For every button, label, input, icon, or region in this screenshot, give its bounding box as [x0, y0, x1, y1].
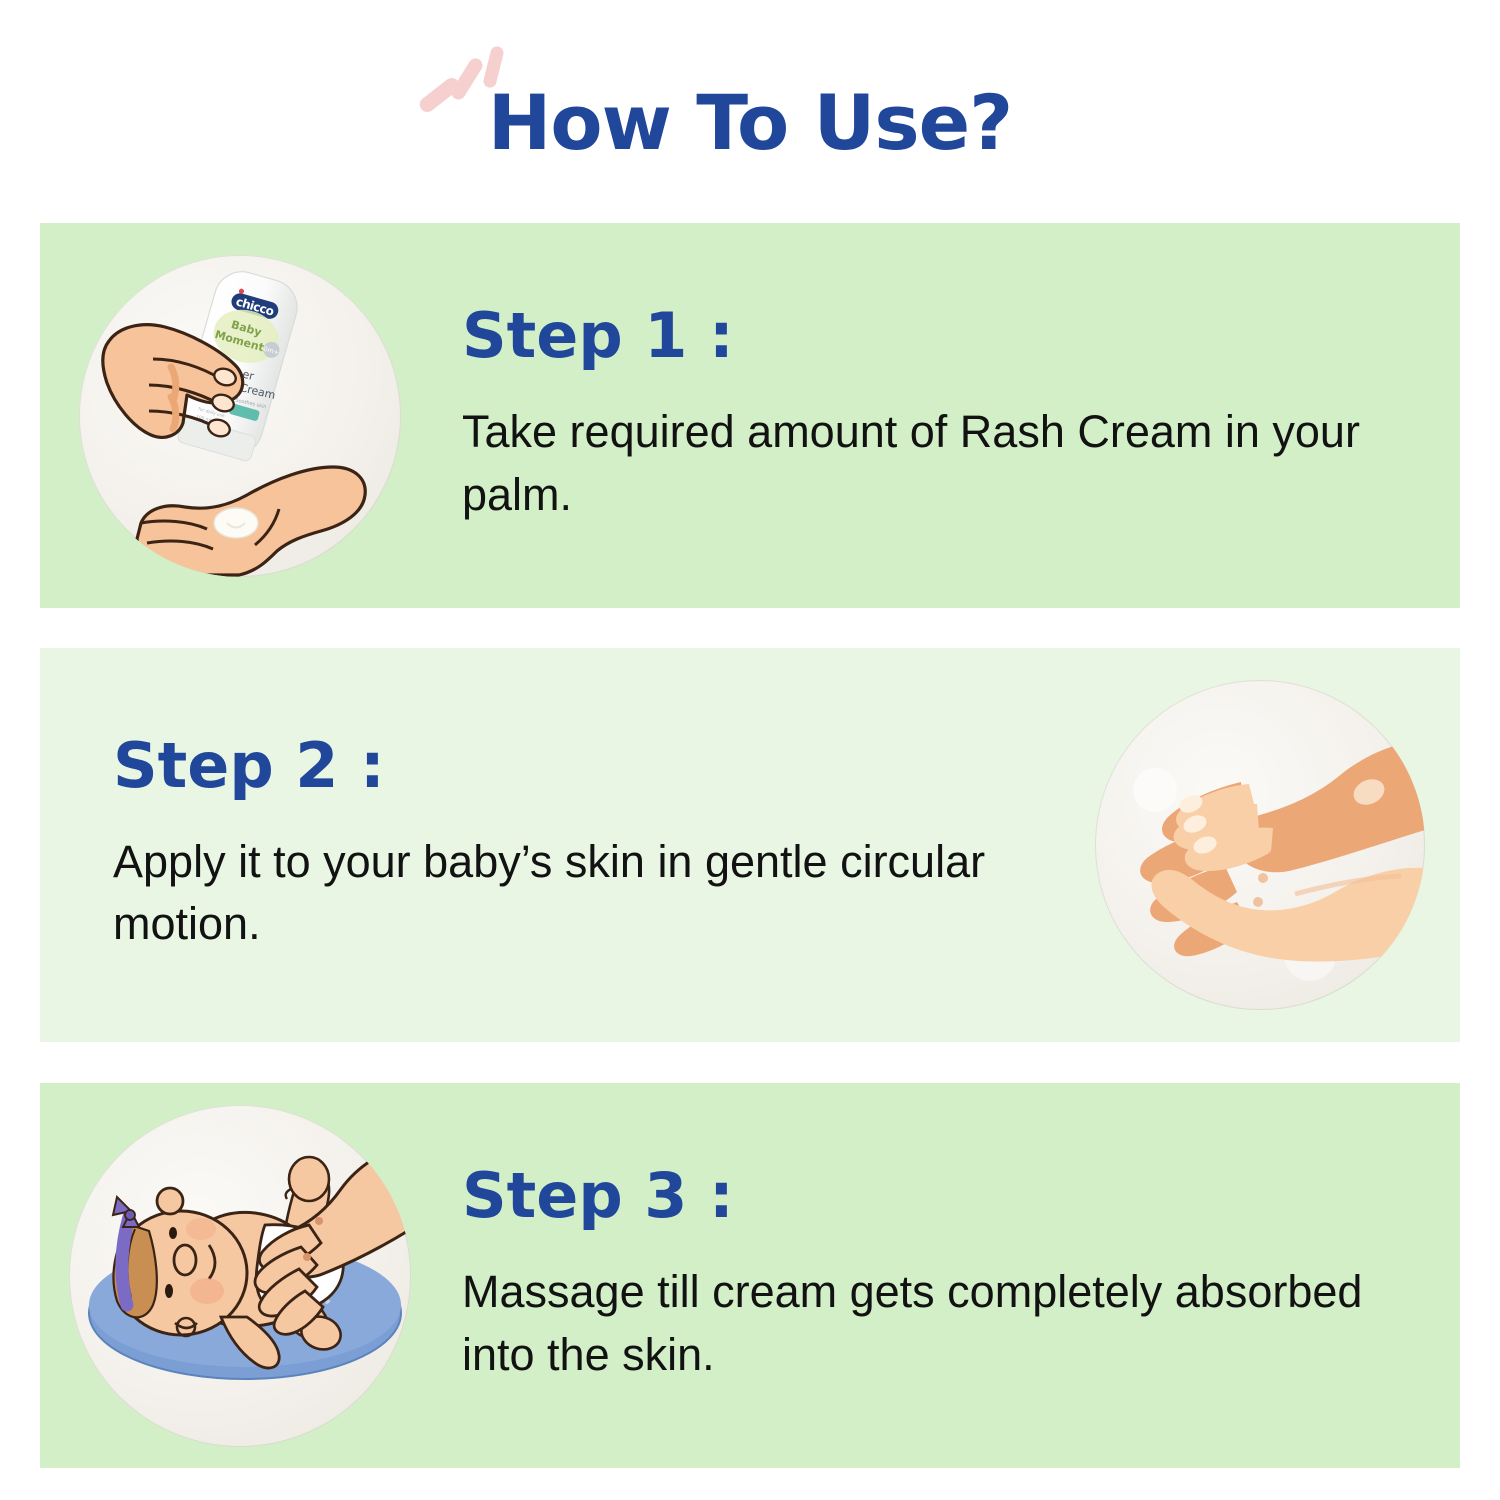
step-3-heading: Step 3 : — [462, 1165, 1430, 1227]
step-2-heading: Step 2 : — [113, 735, 1040, 797]
step-panel-3: Step 3 : Massage till cream gets complet… — [40, 1083, 1460, 1468]
step-2-body: Apply it to your baby’s skin in gentle c… — [113, 831, 1040, 955]
hands-rubbing-cream-illustration — [1095, 680, 1425, 1010]
step-1-text: Step 1 : Take required amount of Rash Cr… — [440, 305, 1460, 525]
step-3-text: Step 3 : Massage till cream gets complet… — [440, 1165, 1460, 1385]
step-3-illustration — [69, 1105, 411, 1447]
step-panel-1: chicco Baby Moments 0m+ Diaper Rash Crea… — [40, 223, 1460, 608]
step-1-heading: Step 1 : — [462, 305, 1430, 367]
step-1-media: chicco Baby Moments 0m+ Diaper Rash Crea… — [40, 223, 440, 608]
step-1-illustration: chicco Baby Moments 0m+ Diaper Rash Crea… — [79, 255, 401, 577]
baby-massage-illustration — [69, 1105, 411, 1447]
step-2-illustration — [1095, 680, 1425, 1010]
step-panel-2: Step 2 : Apply it to your baby’s skin in… — [40, 648, 1460, 1042]
hand-squeezing-tube-illustration: chicco Baby Moments 0m+ Diaper Rash Crea… — [79, 255, 401, 577]
step-2-media — [1060, 648, 1460, 1042]
page-title: How To Use? — [0, 78, 1500, 167]
step-3-body: Massage till cream gets completely absor… — [462, 1261, 1392, 1385]
step-3-media — [40, 1083, 440, 1468]
step-2-text: Step 2 : Apply it to your baby’s skin in… — [40, 735, 1060, 955]
title-section: How To Use? — [0, 0, 1500, 215]
step-1-body: Take required amount of Rash Cream in yo… — [462, 401, 1392, 525]
